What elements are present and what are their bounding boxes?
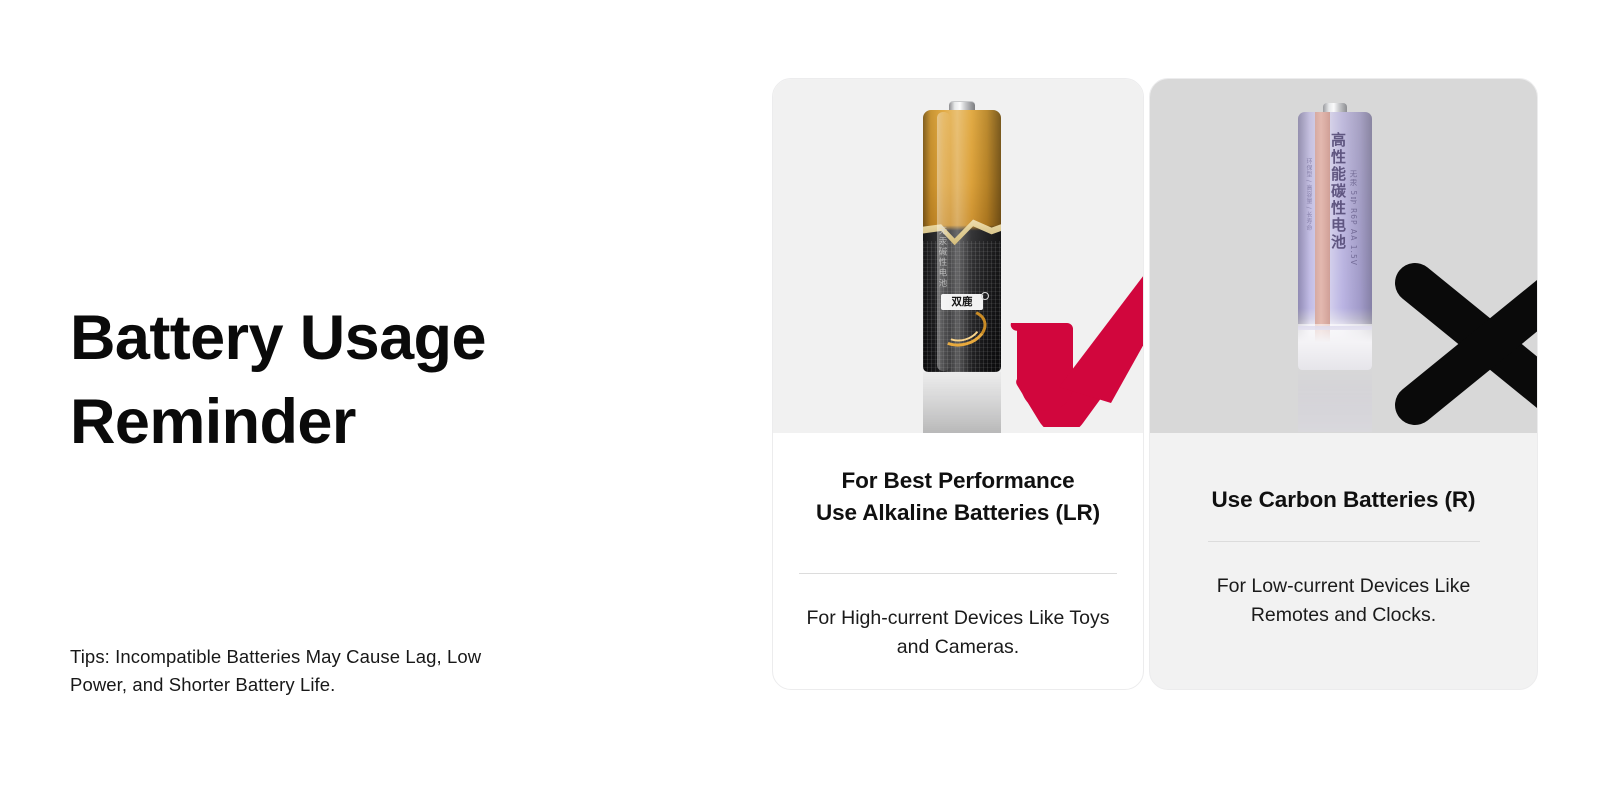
carbon-battery-image: 高性能碳性电池 无汞 5号 R6P AA 1.5V 环保型 / 高容量 / 长寿…	[1298, 112, 1372, 370]
card-title-line1: Use Carbon Batteries (R)	[1212, 484, 1476, 516]
card-title-recommended: For Best Performance Use Alkaline Batter…	[816, 465, 1100, 529]
registered-mark-icon	[981, 292, 989, 300]
card-title-not-recommended: Use Carbon Batteries (R)	[1212, 465, 1476, 516]
x-mark-icon	[1389, 259, 1537, 427]
carbon-reflection	[1298, 370, 1372, 432]
comparison-cards: 无汞碱性电池 双鹿	[772, 78, 1538, 690]
card-divider	[1208, 541, 1480, 542]
poster-canvas: Battery Usage Reminder Tips: Incompatibl…	[0, 0, 1600, 794]
battery-vertical-label: 无汞碱性电池	[936, 226, 948, 289]
battery-body: 无汞碱性电池 双鹿	[923, 110, 1001, 372]
battery-brand-text: 双鹿	[941, 294, 983, 310]
card-title-line1: For Best Performance	[816, 465, 1100, 497]
alkaline-reflection	[923, 372, 1001, 433]
alkaline-card-body: For Best Performance Use Alkaline Batter…	[773, 433, 1143, 689]
carbon-card-body: Use Carbon Batteries (R) For Low-current…	[1150, 433, 1537, 689]
card-description-recommended: For High-current Devices Like Toys and C…	[799, 604, 1117, 662]
check-mark-icon	[1007, 267, 1143, 427]
battery-body: 高性能碳性电池 无汞 5号 R6P AA 1.5V 环保型 / 高容量 / 长寿…	[1298, 112, 1372, 370]
card-not-recommended-carbon[interactable]: 高性能碳性电池 无汞 5号 R6P AA 1.5V 环保型 / 高容量 / 长寿…	[1149, 78, 1538, 690]
battery-spec-label: 无汞 5号 R6P AA 1.5V	[1348, 170, 1359, 266]
tips-note: Tips: Incompatible Batteries May Cause L…	[70, 643, 540, 699]
card-title-line2: Use Alkaline Batteries (LR)	[816, 497, 1100, 529]
card-divider	[799, 573, 1117, 574]
alkaline-battery-image: 无汞碱性电池 双鹿	[923, 110, 1001, 372]
battery-brand-logo: 双鹿	[935, 292, 989, 350]
battery-vertical-label: 高性能碳性电池	[1328, 132, 1349, 251]
alkaline-image-area: 无汞碱性电池 双鹿	[773, 79, 1143, 433]
page-title: Battery Usage Reminder	[70, 296, 690, 464]
carbon-image-area: 高性能碳性电池 无汞 5号 R6P AA 1.5V 环保型 / 高容量 / 长寿…	[1150, 79, 1537, 433]
card-description-not-recommended: For Low-current Devices Like Remotes and…	[1176, 572, 1511, 630]
battery-small-label: 环保型 / 高容量 / 长寿命	[1304, 158, 1313, 231]
battery-base	[1298, 324, 1372, 370]
card-recommended-alkaline[interactable]: 无汞碱性电池 双鹿	[772, 78, 1144, 690]
